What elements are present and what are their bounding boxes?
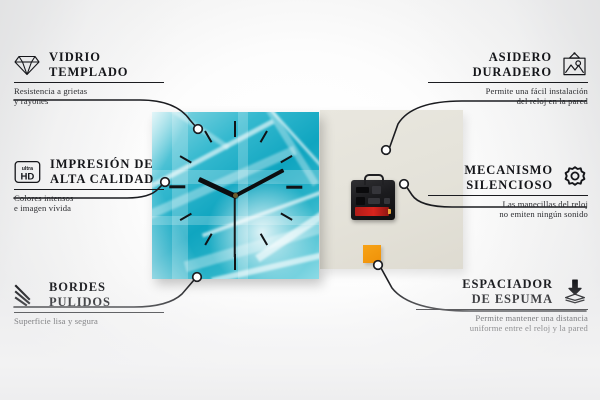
ultra-hd-icon: ultra HD (14, 160, 41, 184)
svg-text:HD: HD (20, 171, 34, 182)
feature-divider (14, 189, 164, 190)
feature-heading-row: ultra HD IMPRESIÓN DE ALTA CALIDAD (14, 157, 164, 186)
wire-node-mecanismo (400, 180, 409, 189)
feature-heading-row: VIDRIO TEMPLADO (14, 50, 164, 79)
feature-mecanismo-silencioso[interactable]: MECANISMO SILENCIOSO Las manecillas del … (428, 163, 588, 220)
feature-divider (14, 312, 164, 313)
feature-title: BORDES PULIDOS (49, 280, 111, 309)
feature-heading-row: ASIDERO DURADERO (428, 50, 588, 79)
wire-node-vidrio (194, 125, 203, 134)
feature-title: ASIDERO DURADERO (473, 50, 552, 79)
wire-node-bordes (193, 273, 202, 282)
feature-espaciador-de-espuma[interactable]: ESPACIADOR DE ESPUMA Permite mantener un… (416, 277, 588, 334)
hanging-frame-icon (561, 52, 588, 77)
feature-title: VIDRIO TEMPLADO (49, 50, 128, 79)
infographic-canvas: VIDRIO TEMPLADO Resistencia a grietas y … (0, 0, 600, 400)
feature-divider (14, 82, 164, 83)
feature-subtitle: Permite mantener una distancia uniforme … (416, 313, 588, 334)
wire-asidero (388, 101, 586, 152)
feature-asidero-duradero[interactable]: ASIDERO DURADERO Permite una fácil insta… (428, 50, 588, 107)
feature-divider (428, 195, 588, 196)
feature-vidrio-templado[interactable]: VIDRIO TEMPLADO Resistencia a grietas y … (14, 50, 164, 107)
diamond-icon (14, 54, 40, 76)
feature-title: IMPRESIÓN DE ALTA CALIDAD (50, 157, 154, 186)
feature-heading-row: BORDES PULIDOS (14, 280, 164, 309)
feature-subtitle: Superficie lisa y segura (14, 316, 164, 326)
feature-subtitle: Permite una fácil instalación del reloj … (428, 86, 588, 107)
feature-divider (416, 309, 588, 310)
feature-divider (428, 82, 588, 83)
feature-heading-row: ESPACIADOR DE ESPUMA (416, 277, 588, 306)
polished-edges-icon (14, 284, 40, 306)
feature-heading-row: MECANISMO SILENCIOSO (428, 163, 588, 192)
arrow-down-layers-icon (562, 279, 588, 304)
feature-subtitle: Resistencia a grietas y rayones (14, 86, 164, 107)
feature-bordes-pulidos[interactable]: BORDES PULIDOS Superficie lisa y segura (14, 280, 164, 326)
feature-subtitle: Las manecillas del reloj no emiten ningú… (428, 199, 588, 220)
feature-impresion-alta-calidad[interactable]: ultra HD IMPRESIÓN DE ALTA CALIDAD Color… (14, 157, 164, 214)
feature-subtitle: Colores intensos e imagen vívida (14, 193, 164, 214)
feature-title: ESPACIADOR DE ESPUMA (462, 277, 553, 306)
gear-icon (562, 165, 588, 190)
feature-title: MECANISMO SILENCIOSO (464, 163, 553, 192)
wire-node-espaciador (374, 261, 383, 270)
wire-node-asidero (382, 146, 391, 155)
